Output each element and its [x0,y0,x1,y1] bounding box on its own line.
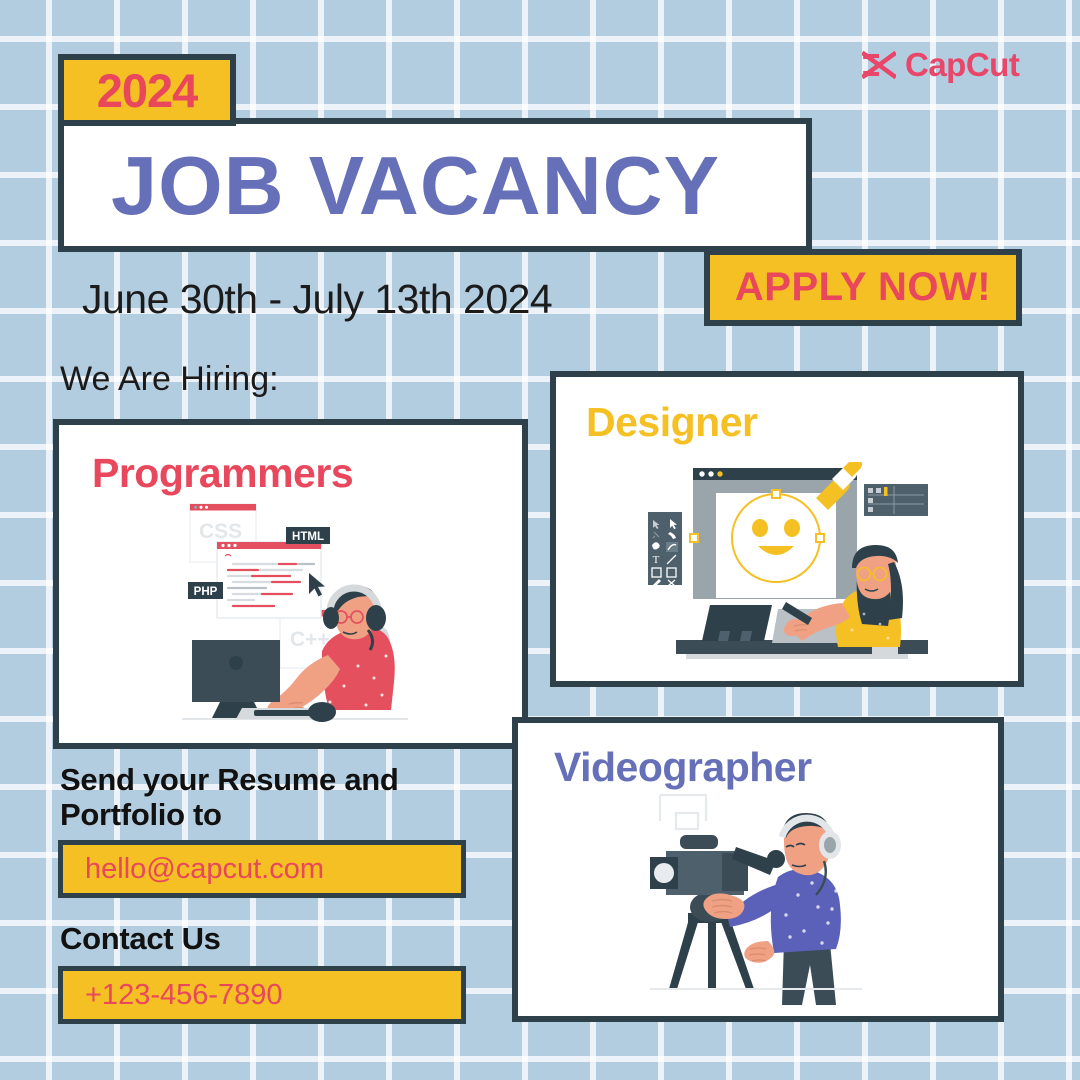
contact-heading: Contact Us [60,922,221,957]
svg-text:T: T [653,554,660,566]
capcut-hourglass-icon [862,51,896,79]
date-range: June 30th - July 13th 2024 [82,276,552,323]
svg-text:CSS: CSS [199,520,242,543]
year-badge: 2024 [58,54,236,126]
capcut-logo-text: CapCut [905,48,1019,81]
job-card-programmers[interactable]: Programmers CSS C++ [53,419,528,749]
videographer-with-camera-illustration [636,791,876,1006]
apply-now-button[interactable]: APPLY NOW! [704,249,1022,326]
phone-field[interactable]: +123-456-7890 [58,966,466,1024]
svg-text:PHP: PHP [194,586,218,598]
title-banner: JOB VACANCY [58,118,812,252]
poster-canvas: CapCut 2024 JOB VACANCY June 30th - July… [0,0,1080,1080]
email-field[interactable]: hello@capcut.com [58,840,466,898]
svg-text:C++: C++ [290,628,330,651]
programmer-at-desk-illustration: CSS C++ [162,490,418,745]
resume-heading: Send your Resume and Portfolio to [60,763,460,832]
job-card-designer[interactable]: Designer [550,371,1024,687]
email-value: hello@capcut.com [63,853,324,886]
job-card-videographer[interactable]: Videographer [512,717,1004,1022]
designer-with-tablet-illustration: T [646,462,956,677]
page-title: JOB VACANCY [64,144,720,227]
phone-value: +123-456-7890 [63,979,283,1012]
year-label: 2024 [97,63,198,118]
job-card-programmers-title: Programmers [92,453,353,494]
we-are-hiring-label: We Are Hiring: [60,360,279,399]
svg-text:HTML: HTML [292,531,324,543]
job-card-videographer-title: Videographer [554,747,812,788]
capcut-logo: CapCut [862,48,1019,81]
apply-now-label: APPLY NOW! [735,265,991,310]
job-card-designer-title: Designer [586,402,757,443]
